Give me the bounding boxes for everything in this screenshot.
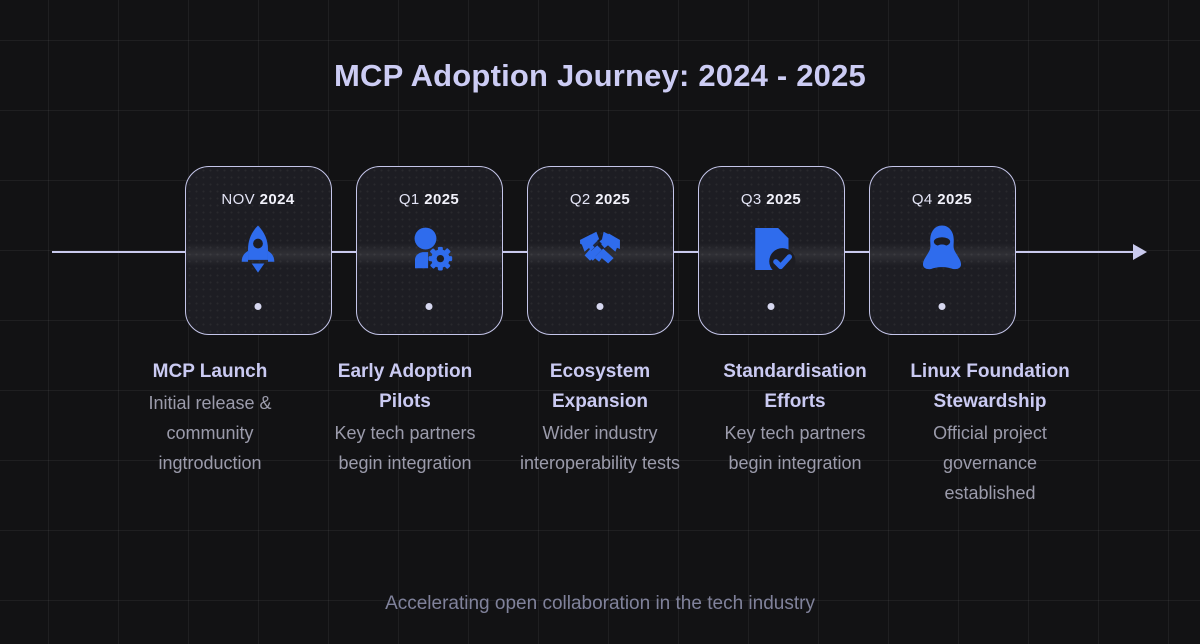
- milestone-card-ecosystem-expansion[interactable]: Q2 2025: [527, 166, 674, 335]
- milestone-text-mcp-launch: MCP Launch Initial release & community i…: [125, 357, 296, 508]
- handshake-icon: [569, 218, 631, 280]
- milestone-dot: [768, 303, 775, 310]
- user-gear-icon: [398, 218, 460, 280]
- rocket-icon: [227, 218, 289, 280]
- infographic-canvas: MCP Adoption Journey: 2024 - 2025 NOV 20…: [0, 0, 1200, 644]
- milestone-heading: Early Adoption Pilots: [320, 357, 491, 417]
- page-title: MCP Adoption Journey: 2024 - 2025: [0, 58, 1200, 94]
- footer-caption: Accelerating open collaboration in the t…: [0, 593, 1200, 615]
- milestone-date: Q1 2025: [399, 191, 459, 208]
- milestone-date: Q4 2025: [912, 191, 972, 208]
- milestone-period-year: 2025: [937, 191, 972, 208]
- milestone-period-label: Q1: [399, 191, 420, 208]
- milestone-description: Initial release & community ingtroductio…: [125, 388, 296, 478]
- milestone-card-early-adoption[interactable]: Q1 2025: [356, 166, 503, 335]
- milestone-dot: [255, 303, 262, 310]
- milestone-text-standardisation: Standardisation Efforts Key tech partner…: [710, 357, 881, 508]
- linux-penguin-icon: [911, 218, 973, 280]
- milestone-card-mcp-launch[interactable]: NOV 2024: [185, 166, 332, 335]
- milestone-date: Q2 2025: [570, 191, 630, 208]
- milestone-period-label: NOV: [221, 191, 255, 208]
- milestone-text-early-adoption: Early Adoption Pilots Key tech partners …: [320, 357, 491, 508]
- milestone-date: NOV 2024: [221, 191, 294, 208]
- milestone-label-row: MCP Launch Initial release & community i…: [0, 357, 1200, 508]
- milestone-period-year: 2025: [766, 191, 801, 208]
- milestone-card-row: NOV 2024 Q1 2025: [0, 166, 1200, 335]
- milestone-period-year: 2024: [260, 191, 295, 208]
- milestone-description: Official project governance established: [905, 418, 1076, 508]
- milestone-description: Wider industry interoperability tests: [515, 418, 686, 478]
- milestone-description: Key tech partners begin integration: [320, 418, 491, 478]
- milestone-text-linux-foundation: Linux Foundation Stewardship Official pr…: [905, 357, 1076, 508]
- milestone-dot: [426, 303, 433, 310]
- milestone-period-year: 2025: [595, 191, 630, 208]
- milestone-dot: [597, 303, 604, 310]
- milestone-card-linux-foundation[interactable]: Q4 2025: [869, 166, 1016, 335]
- milestone-heading: Linux Foundation Stewardship: [905, 357, 1076, 417]
- milestone-period-label: Q4: [912, 191, 933, 208]
- milestone-card-standardisation[interactable]: Q3 2025: [698, 166, 845, 335]
- milestone-dot: [939, 303, 946, 310]
- milestone-heading: Standardisation Efforts: [710, 357, 881, 417]
- milestone-period-label: Q2: [570, 191, 591, 208]
- document-check-icon: [740, 218, 802, 280]
- milestone-heading: MCP Launch: [125, 357, 296, 387]
- milestone-description: Key tech partners begin integration: [710, 418, 881, 478]
- milestone-period-label: Q3: [741, 191, 762, 208]
- milestone-heading: Ecosystem Expansion: [515, 357, 686, 417]
- milestone-period-year: 2025: [424, 191, 459, 208]
- milestone-text-ecosystem-expansion: Ecosystem Expansion Wider industry inter…: [515, 357, 686, 508]
- milestone-date: Q3 2025: [741, 191, 801, 208]
